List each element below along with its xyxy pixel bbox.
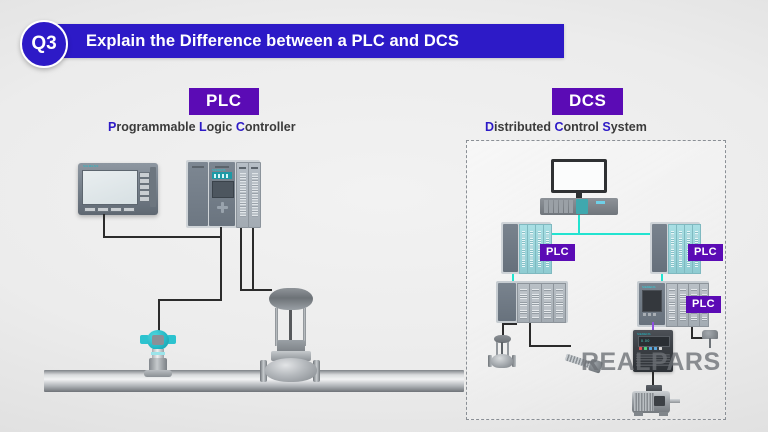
valve-stem — [289, 310, 292, 344]
plc-power-supply-module — [188, 162, 208, 226]
pressure-transmitter — [138, 330, 178, 374]
small-valve-body — [491, 354, 513, 368]
vfd-drive: SIEMENS 0.00 — [633, 330, 673, 372]
transmitter-display — [152, 335, 164, 345]
vfd-display-value: 0.00 — [641, 339, 650, 343]
motor-foot — [659, 412, 668, 416]
valve-cable-b — [252, 228, 254, 290]
plc-subtitle-rogrammable: rogrammable — [116, 120, 199, 134]
plc-badge-io-right: PLC — [686, 296, 721, 313]
plc-subtitle-ogic: ogic — [207, 120, 236, 134]
hmi-side-key — [139, 190, 150, 196]
io-rack-left — [496, 281, 568, 323]
network-bus-drop — [578, 215, 580, 235]
plc-subtitle-ontroller: ontroller — [245, 120, 296, 134]
dcs-section-subtitle: Distributed Control System — [485, 120, 647, 134]
hmi-screen — [82, 170, 138, 205]
dcs-subtitle-s: S — [602, 120, 610, 134]
cpu-display — [212, 181, 234, 198]
question-number-badge: Q3 — [20, 20, 68, 68]
valve-actuator — [269, 288, 313, 310]
plc-io-module — [248, 162, 261, 228]
electric-motor — [626, 385, 682, 417]
plc-badge-left: PLC — [540, 244, 575, 261]
server-led-strip — [596, 201, 605, 204]
vfd-vent-grille — [636, 354, 670, 366]
hmi-side-bezel — [150, 167, 156, 207]
field-sensor-stem — [709, 338, 711, 348]
vfd-button-nav — [649, 347, 652, 350]
dcs-subtitle-d: D — [485, 120, 494, 134]
vfd-button-fn — [659, 347, 662, 350]
hmi-brand-label: SIEMENS — [83, 164, 99, 168]
cpu-keypad — [217, 202, 228, 213]
hmi-cable-horizontal — [103, 236, 222, 238]
field-sensor — [700, 330, 724, 350]
vfd-button-start — [644, 347, 647, 350]
plc-section-subtitle: Programmable Logic Controller — [108, 120, 296, 134]
plc-badge-right: PLC — [688, 244, 723, 261]
vfd-button-nav — [654, 347, 657, 350]
transmitter-flange — [144, 370, 172, 377]
hmi-side-key — [139, 196, 150, 202]
io-rack-cpu: SIEMENS — [639, 283, 665, 325]
motor-cable — [652, 372, 654, 386]
transmitter-ring — [151, 352, 165, 355]
field-cable-joint — [515, 323, 517, 325]
field-cable-sensor-h — [529, 345, 571, 347]
transmitter-cable-horizontal — [158, 299, 222, 301]
plc-cpu-module: SIEMENS — [209, 162, 235, 226]
module-top-connector — [192, 166, 204, 168]
controller-cpu-module — [652, 224, 667, 272]
hmi-key — [110, 207, 122, 212]
field-cable-valve-h — [502, 323, 516, 325]
motor-terminal-box — [654, 396, 665, 406]
valve-cable-a — [240, 228, 242, 290]
motor-cooling-fins — [634, 393, 654, 411]
valve-body — [265, 358, 317, 382]
motor-shaft — [670, 399, 680, 403]
flow-sensor-head — [588, 359, 603, 374]
slide-canvas: Explain the Difference between a PLC and… — [0, 0, 768, 432]
dcs-section-badge: DCS — [552, 88, 623, 115]
vfd-button-stop — [639, 347, 642, 350]
page-title: Explain the Difference between a PLC and… — [44, 24, 564, 58]
plc-section-badge: PLC — [189, 88, 259, 115]
hmi-side-key — [139, 172, 150, 178]
plc-subtitle-c: C — [236, 120, 245, 134]
hmi-cable-vertical — [103, 214, 105, 238]
dcs-subtitle-ystem: ystem — [611, 120, 647, 134]
io-rack-cpu — [498, 283, 516, 321]
control-valve-small — [487, 335, 517, 375]
plc-subtitle-l: L — [199, 120, 207, 134]
server-network-module — [576, 199, 588, 214]
hmi-key — [84, 207, 96, 212]
operator-workstation-monitor — [551, 159, 607, 193]
plc-rack: SIEMENS — [186, 160, 260, 228]
process-pipe — [44, 370, 464, 392]
field-cable-sensor-v — [529, 323, 531, 347]
motor-foot — [634, 412, 643, 416]
hmi-side-key — [139, 184, 150, 190]
hmi-key — [97, 207, 109, 212]
dcs-subtitle-ontrol: ontrol — [563, 120, 602, 134]
transmitter-cable-vertical — [220, 227, 222, 301]
hmi-side-key — [139, 178, 150, 184]
io-module — [553, 283, 566, 323]
hmi-key — [123, 207, 135, 212]
server-rack — [540, 198, 618, 215]
monitor-screen — [554, 162, 604, 190]
cpu-led-strip — [212, 172, 232, 179]
hmi-panel: SIEMENS — [78, 163, 158, 215]
vfd-display: 0.00 — [638, 336, 670, 347]
controller-cpu-module — [503, 224, 518, 272]
dcs-subtitle-istributed: istributed — [494, 120, 554, 134]
flow-sensor-body — [565, 354, 592, 369]
control-valve — [255, 288, 325, 378]
